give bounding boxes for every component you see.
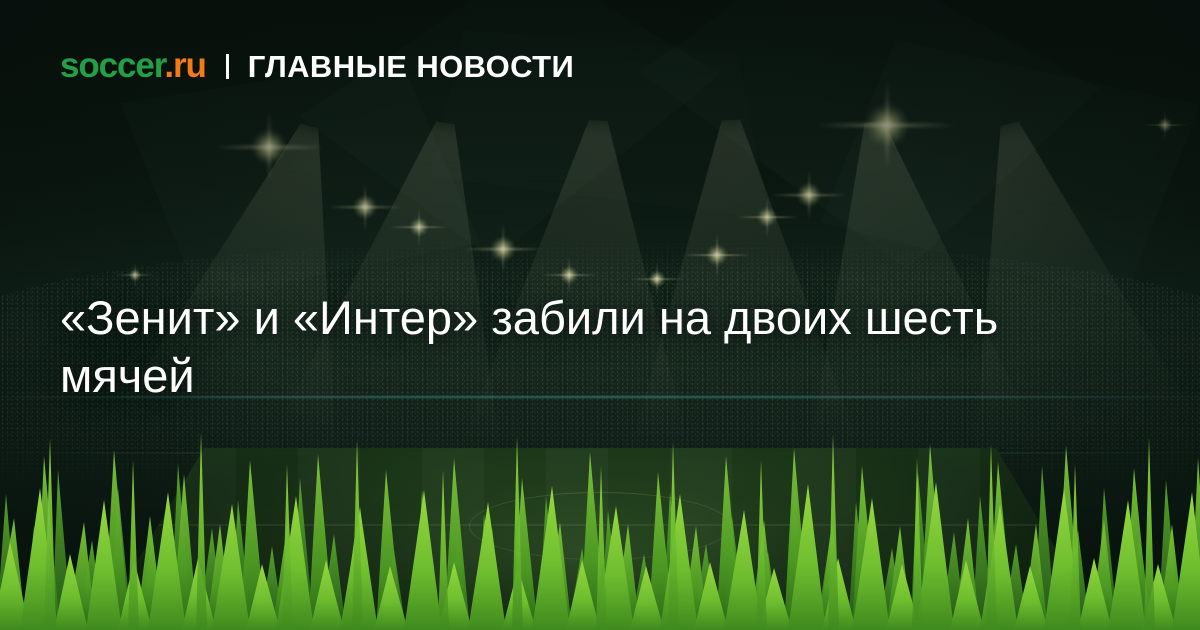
card-header: soccer.ru ГЛАВНЫЕ НОВОСТИ xyxy=(60,48,574,83)
grass-foreground xyxy=(0,430,1200,630)
logo-text-ru: .ru xyxy=(164,46,205,85)
header-separator xyxy=(226,54,229,79)
logo-text-soccer: soccer xyxy=(60,46,164,85)
site-logo[interactable]: soccer.ru xyxy=(60,48,206,83)
header-section-title: ГЛАВНЫЕ НОВОСТИ xyxy=(248,51,574,82)
news-share-card: soccer.ru ГЛАВНЫЕ НОВОСТИ «Зенит» и «Инт… xyxy=(0,0,1200,630)
article-headline: «Зенит» и «Интер» забили на двоих шесть … xyxy=(60,289,1130,405)
